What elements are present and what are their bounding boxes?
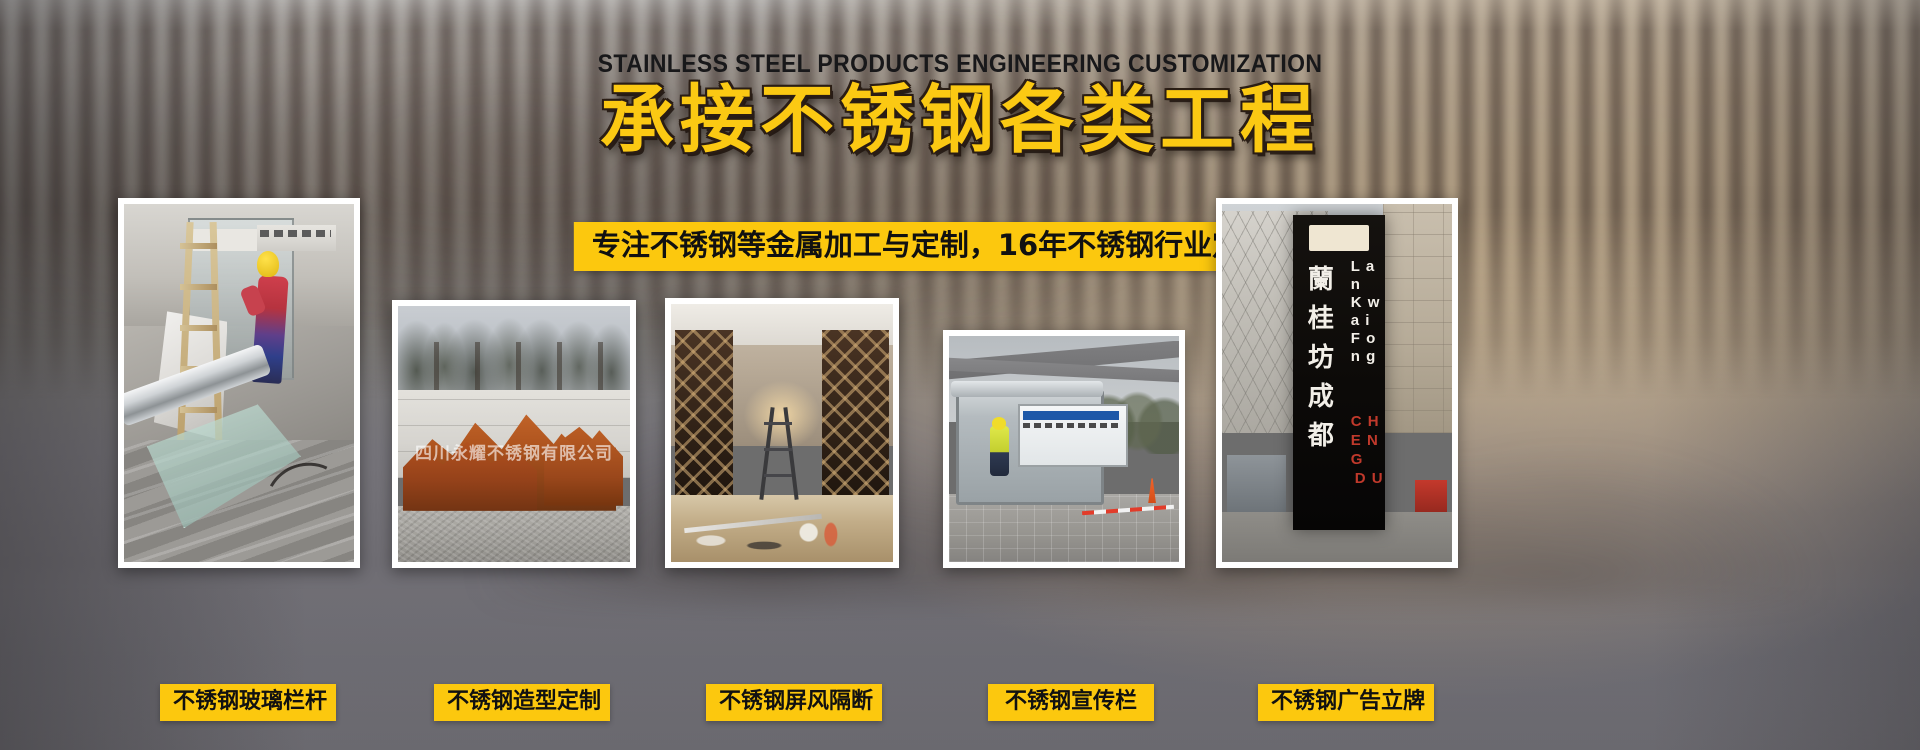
gallery-caption-3[interactable]: 不锈钢屏风隔断	[706, 684, 882, 721]
sign-cn-char-1: 蘭	[1308, 265, 1334, 295]
promo-banner: STAINLESS STEEL PRODUCTS ENGINEERING CUS…	[0, 0, 1920, 750]
gallery-photo-5: 蘭 桂 坊 成 都 L a n K w a i F o n g C H E N …	[1222, 204, 1452, 562]
sign-english-bottom: C H E N G D U	[1351, 412, 1388, 527]
sign-english-top: L a n K w a i F o n g	[1351, 258, 1388, 401]
sign-en-line-3: F o n g	[1351, 330, 1388, 366]
english-headline: STAINLESS STEEL PRODUCTS ENGINEERING CUS…	[77, 50, 1843, 79]
gallery-caption-4[interactable]: 不锈钢宣传栏	[988, 684, 1154, 721]
sign-en-line-1: L a n	[1351, 258, 1388, 294]
hard-hat-shape	[257, 251, 279, 278]
gallery-photo-2: 四川永耀不锈钢有限公司	[398, 306, 630, 562]
sign-chinese-text: 蘭 桂 坊 成 都	[1300, 265, 1341, 451]
gallery-card-5[interactable]: 蘭 桂 坊 成 都 L a n K w a i F o n g C H E N …	[1216, 198, 1458, 568]
step-ladder-shape	[760, 407, 800, 500]
sign-cn-char-2: 桂	[1308, 304, 1334, 334]
sign-en-bottom-1: C H E N G	[1351, 412, 1388, 469]
photo-watermark: 四川永耀不锈钢有限公司	[398, 439, 630, 464]
traffic-cone-shape	[1148, 478, 1156, 503]
sign-cn-char-4: 成	[1308, 382, 1334, 412]
gallery-caption-5[interactable]: 不锈钢广告立牌	[1258, 684, 1434, 721]
sign-cn-char-3: 坊	[1308, 343, 1334, 373]
sign-cn-char-5: 都	[1308, 421, 1334, 451]
chinese-headline: 承接不锈钢各类工程	[0, 78, 1920, 162]
gallery-photo-3	[671, 304, 893, 562]
gallery-card-3[interactable]	[665, 298, 899, 568]
sign-badge	[1309, 225, 1369, 250]
sign-en-bottom-2: D U	[1355, 469, 1384, 488]
gallery-card-1[interactable]	[118, 198, 360, 568]
gallery-caption-1[interactable]: 不锈钢玻璃栏杆	[160, 684, 336, 721]
sign-en-line-2: K w a i	[1351, 294, 1388, 330]
gallery-photo-1	[124, 204, 354, 562]
gallery-caption-2[interactable]: 不锈钢造型定制	[434, 684, 610, 721]
gallery-photo-4	[949, 336, 1179, 562]
gallery-card-2[interactable]: 四川永耀不锈钢有限公司	[392, 300, 636, 568]
gallery-card-4[interactable]	[943, 330, 1185, 568]
